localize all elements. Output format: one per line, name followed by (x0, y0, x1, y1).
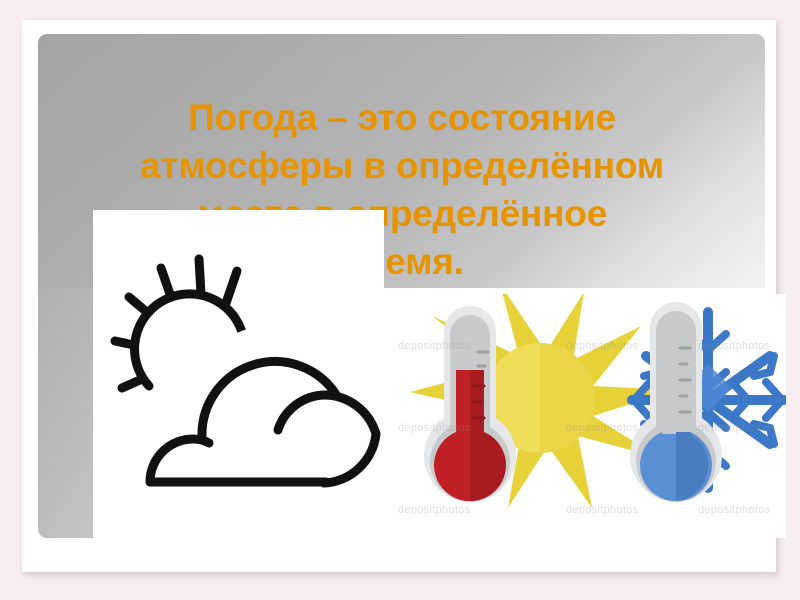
hot-and-cold-thermometers-illustration (388, 294, 786, 538)
slide-root: Погода – это состояние атмосферы в опред… (0, 0, 800, 600)
thermometers-image: depositphotos depositphotos depositphoto… (388, 294, 786, 538)
slide-card: Погода – это состояние атмосферы в опред… (22, 20, 776, 572)
sun-behind-cloud-icon (93, 210, 384, 538)
sun-behind-cloud-image (93, 210, 384, 538)
